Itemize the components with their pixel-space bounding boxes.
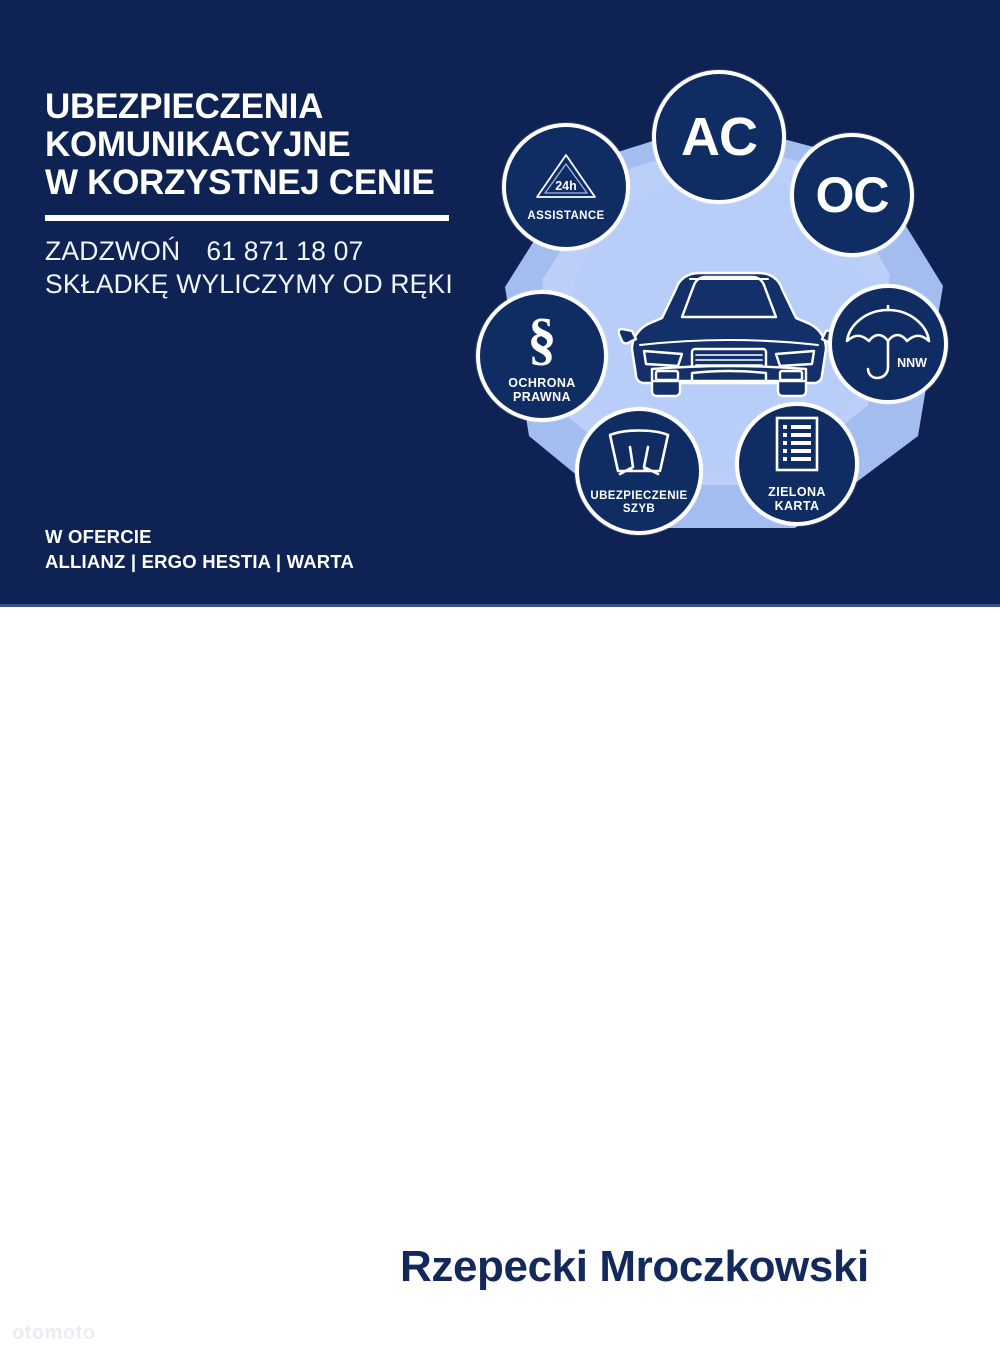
diagram-node-zielona-karta[interactable]: ZIELONA KARTA — [735, 402, 859, 526]
umbrella-icon: NNW — [842, 301, 934, 388]
diagram-node-label: AC — [681, 106, 757, 168]
diagram-node-nnw[interactable]: NNW — [828, 284, 948, 404]
diagram-node-label: OC — [816, 166, 889, 224]
banner-panel: UBEZPIECZENIA KOMUNIKACYJNE W KORZYSTNEJ… — [0, 0, 1000, 607]
brand-name: Rzepecki Mroczkowski — [400, 1242, 869, 1292]
diagram-node-oc[interactable]: OC — [790, 133, 914, 257]
headline-line-2: KOMUNIKACYJNE — [45, 126, 485, 164]
assistance-hours-text: 24h — [555, 179, 577, 193]
phone-row: ZADZWOŃ 61 871 18 07 — [45, 235, 485, 268]
warning-triangle-icon: 24h — [535, 152, 597, 205]
offer-title: W OFERCIE — [45, 524, 354, 549]
quote-note: SKŁADKĘ WYLICZYMY OD RĘKI — [45, 268, 485, 301]
diagram-node-label: UBEZPIECZENIE SZYB — [590, 490, 687, 516]
headline-block: UBEZPIECZENIA KOMUNIKACYJNE W KORZYSTNEJ… — [45, 88, 485, 301]
diagram-node-ac[interactable]: AC — [652, 70, 786, 204]
diagram-node-label: ZIELONA KARTA — [768, 485, 826, 513]
offer-block: W OFERCIE ALLIANZ | ERGO HESTIA | WARTA — [45, 524, 354, 574]
offer-insurers: ALLIANZ | ERGO HESTIA | WARTA — [45, 549, 354, 574]
car-front-icon — [618, 263, 840, 403]
document-list-icon — [774, 415, 820, 478]
coverage-diagram: 24h ASSISTANCE AC OC NNW — [470, 85, 990, 585]
diagram-node-ochrona-prawna[interactable]: § OCHRONA PRAWNA — [476, 290, 608, 422]
diagram-node-label: OCHRONA PRAWNA — [508, 376, 575, 404]
headline-divider — [45, 215, 449, 221]
headline-line-3: W KORZYSTNEJ CENIE — [45, 164, 485, 202]
diagram-node-ubezpieczenie-szyb[interactable]: UBEZPIECZENIE SZYB — [575, 407, 703, 535]
diagram-node-assistance[interactable]: 24h ASSISTANCE — [502, 123, 630, 251]
call-label: ZADZWOŃ — [45, 235, 180, 268]
headline-line-1: UBEZPIECZENIA — [45, 88, 485, 126]
section-paragraph-icon: § — [519, 309, 565, 372]
diagram-node-label: ASSISTANCE — [527, 210, 604, 223]
source-watermark: otomoto — [12, 1322, 95, 1345]
diagram-node-label: NNW — [897, 356, 927, 370]
phone-number[interactable]: 61 871 18 07 — [206, 235, 363, 268]
section-glyph: § — [528, 309, 557, 367]
footer-panel: Rzepecki Mroczkowski otomoto — [0, 610, 1000, 750]
windshield-wipers-icon — [600, 427, 678, 484]
